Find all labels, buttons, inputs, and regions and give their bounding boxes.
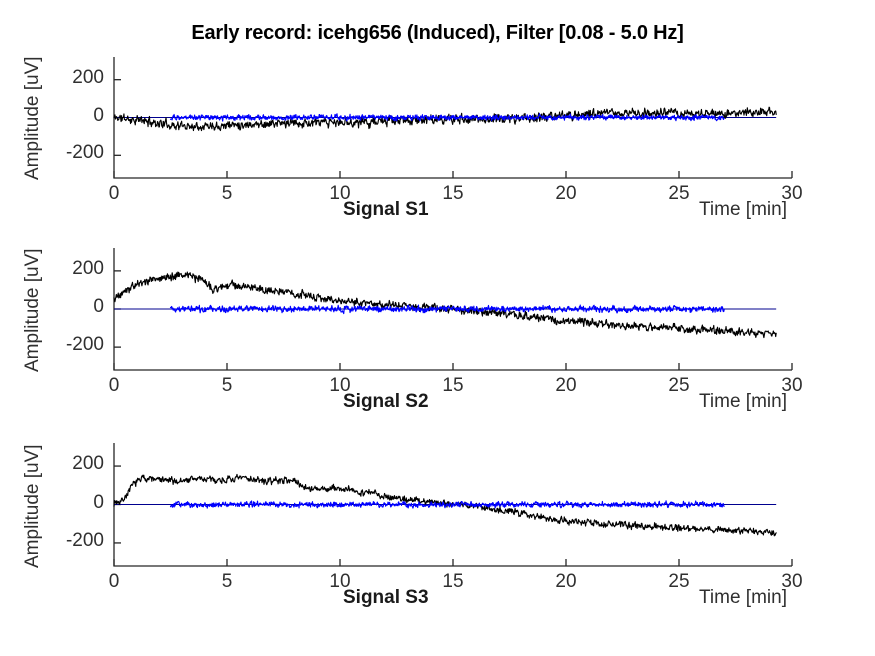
subplot-signal-s3: 2000-200051015202530Amplitude [uV]Signal… [0, 0, 875, 656]
x-tick-label: 0 [84, 571, 144, 593]
x-axis-label: Time [min] [699, 587, 787, 609]
plot-area-signal-s3 [0, 0, 875, 656]
x-tick-label: 20 [536, 571, 596, 593]
y-tick-label: 0 [93, 492, 104, 514]
subplot-label: Signal S3 [343, 587, 429, 609]
figure-canvas: Early record: icehg656 (Induced), Filter… [0, 0, 875, 656]
x-tick-label: 15 [423, 571, 483, 593]
x-tick-label: 5 [197, 571, 257, 593]
y-tick-label: 200 [72, 453, 104, 475]
y-tick-label: -200 [66, 530, 104, 552]
y-axis-label: Amplitude [uV] [22, 444, 44, 568]
